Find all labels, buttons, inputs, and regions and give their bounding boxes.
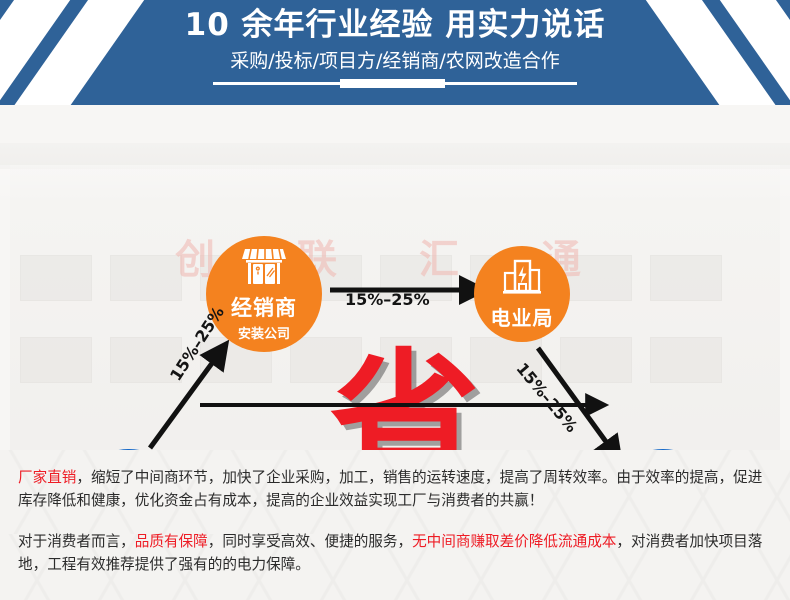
- paragraph-2-highlight-1: 品质有保障: [135, 533, 208, 550]
- node-dealer[interactable]: 经销商 安装公司: [206, 236, 322, 352]
- arrow-label-dealer-to-power: 15%–25%: [345, 290, 430, 309]
- subheadline: 采购/投标/项目方/经销商/农网改造合作: [230, 46, 560, 73]
- arrow-layer: [0, 105, 790, 450]
- header-banner: 10 余年行业经验 用实力说话 采购/投标/项目方/经销商/农网改造合作: [0, 0, 790, 105]
- paragraph-1-highlight: 厂家直销: [18, 469, 76, 486]
- underline-thick-bar: [340, 79, 445, 88]
- paragraph-2-part1: 对于消费者而言，: [18, 533, 135, 550]
- node-dealer-title: 经销商: [231, 292, 297, 322]
- storefront-icon: [241, 246, 287, 289]
- headline: 10 余年行业经验 用实力说话: [185, 7, 606, 44]
- node-dealer-subtitle: 安装公司: [238, 323, 290, 342]
- paragraph-2-highlight-2: 无中间商赚取差价降低流通成本: [412, 533, 616, 550]
- power-building-icon: [501, 258, 543, 299]
- paragraph-2-part2: ，同时享受高效、便捷的服务，: [208, 533, 412, 550]
- node-power-bureau-title: 电业局: [491, 302, 554, 331]
- flow-diagram: 创 联 汇 通 省: [0, 105, 790, 450]
- banner-underline: [195, 79, 595, 88]
- page-root: 10 余年行业经验 用实力说话 采购/投标/项目方/经销商/农网改造合作: [0, 0, 790, 600]
- paragraph-2: 对于消费者而言，品质有保障，同时享受高效、便捷的服务，无中间商赚取差价降低流通成…: [18, 530, 772, 576]
- banner-content: 10 余年行业经验 用实力说话 采购/投标/项目方/经销商/农网改造合作: [0, 0, 790, 105]
- paragraph-1: 厂家直销，缩短了中间商环节，加快了企业采购，加工，销售的运转速度，提高了周转效率…: [18, 466, 772, 512]
- description-section: 厂家直销，缩短了中间商环节，加快了企业采购，加工，销售的运转速度，提高了周转效率…: [0, 450, 790, 600]
- paragraph-1-rest: ，缩短了中间商环节，加快了企业采购，加工，销售的运转速度，提高了周转效率。由于效…: [18, 469, 762, 509]
- node-power-bureau[interactable]: 电业局: [474, 246, 570, 342]
